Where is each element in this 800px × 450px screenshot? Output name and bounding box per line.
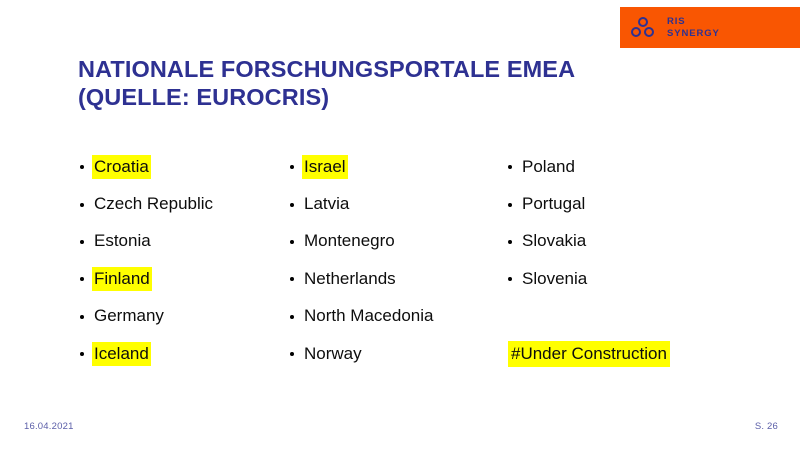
slide-canvas: RIS SYNERGY NATIONALE FORSCHUNGSPORTALE … [0,0,800,450]
country-label: Czech Republic [92,192,215,216]
country-label: Poland [520,155,577,179]
page-title: NATIONALE FORSCHUNGSPORTALE EMEA (QUELLE… [78,55,678,111]
bullet-icon [80,277,84,281]
country-label: North Macedonia [302,304,435,328]
country-label: Slovakia [520,229,588,253]
bullet-icon [508,165,512,169]
ris-synergy-logo-banner: RIS SYNERGY [620,7,800,48]
bullet-icon [290,165,294,169]
list-item: Estonia [80,223,285,260]
under-construction-label: #Under Construction [508,341,670,367]
logo-wordmark-line-2: SYNERGY [667,28,720,40]
country-label: Estonia [92,229,153,253]
list-item: Slovakia [508,223,738,260]
bullet-icon [290,315,294,319]
country-column-1: Croatia Czech Republic Estonia Finland G… [80,148,285,372]
bullet-icon [80,352,84,356]
list-item: Norway [290,335,495,372]
bullet-icon [508,240,512,244]
list-item: Poland [508,148,738,185]
bullet-icon [508,277,512,281]
bullet-icon [80,203,84,207]
country-label: Finland [92,267,152,291]
list-item-spacer [508,298,738,335]
bullet-icon [80,240,84,244]
bullet-icon [290,277,294,281]
list-item: North Macedonia [290,298,495,335]
page-title-line-2: (QUELLE: EUROCRIS) [78,83,678,111]
country-label: Portugal [520,192,587,216]
list-item: Latvia [290,185,495,222]
country-label: Iceland [92,342,151,366]
page-title-line-1: NATIONALE FORSCHUNGSPORTALE EMEA [78,55,678,83]
three-rings-logo-icon [628,13,658,43]
list-item: Slovenia [508,260,738,297]
bullet-icon [290,203,294,207]
list-item: Germany [80,298,285,335]
footer-date: 16.04.2021 [24,421,74,432]
country-label: Germany [92,304,166,328]
country-label: Montenegro [302,229,397,253]
list-item: Netherlands [290,260,495,297]
country-label: Netherlands [302,267,398,291]
list-item: Portugal [508,185,738,222]
country-column-2: Israel Latvia Montenegro Netherlands Nor… [290,148,495,372]
footer-page-number: S. 26 [755,421,778,432]
country-label: Slovenia [520,267,589,291]
logo-ring-top [638,17,648,27]
country-label: Croatia [92,155,151,179]
bullet-icon [290,352,294,356]
logo-wordmark: RIS SYNERGY [667,16,720,39]
list-item: Iceland [80,335,285,372]
logo-wordmark-line-1: RIS [667,16,720,28]
bullet-icon [80,165,84,169]
under-construction-legend: #Under Construction [508,335,738,372]
country-column-3: Poland Portugal Slovakia Slovenia #Under… [508,148,738,372]
bullet-icon [508,203,512,207]
list-item: Czech Republic [80,185,285,222]
bullet-icon [80,315,84,319]
country-label: Israel [302,155,348,179]
logo-ring-left [631,27,641,37]
country-label: Norway [302,342,364,366]
bullet-icon [290,240,294,244]
list-item: Israel [290,148,495,185]
list-item: Croatia [80,148,285,185]
country-label: Latvia [302,192,351,216]
list-item: Finland [80,260,285,297]
list-item: Montenegro [290,223,495,260]
logo-ring-right [644,27,654,37]
